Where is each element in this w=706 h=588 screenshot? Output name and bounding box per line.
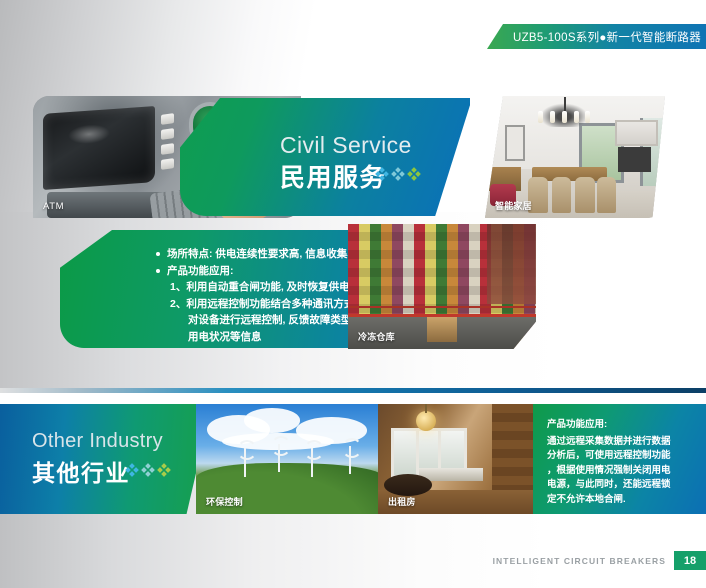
wind-turbine-icon bbox=[244, 448, 246, 477]
footer-label: INTELLIGENT CIRCUIT BREAKERS bbox=[493, 556, 666, 566]
photo-caption: 智能家居 bbox=[495, 199, 532, 212]
diamond-icon bbox=[408, 168, 420, 180]
diamond-icon bbox=[126, 464, 138, 476]
product-series-label: UZB5-100S系列●新一代智能断路器 bbox=[513, 29, 701, 45]
civil-service-title-panel: Civil Service 民用服务 bbox=[180, 98, 470, 216]
photo-caption: ATM bbox=[43, 201, 64, 212]
chair-shape bbox=[597, 177, 617, 214]
chandelier-icon bbox=[536, 101, 592, 127]
section-divider bbox=[0, 388, 706, 393]
diamond-decoration-civil bbox=[376, 168, 420, 180]
wind-turbine-icon bbox=[349, 446, 351, 475]
wind-turbine-icon bbox=[278, 444, 280, 473]
civil-service-title-cn: 民用服务 bbox=[280, 158, 386, 194]
diamond-icon bbox=[392, 168, 404, 180]
other-industry-title-panel: Other Industry 其他行业 bbox=[0, 404, 212, 514]
note-line: 分析后，可使用远程控制功能 bbox=[547, 449, 698, 464]
other-industry-note-panel: 产品功能应用: 通过远程采集数据并进行数据 分析后，可使用远程控制功能 ，根据使… bbox=[533, 404, 706, 514]
other-industry-title-cn: 其他行业 bbox=[32, 454, 130, 488]
page-number-badge: 18 bbox=[674, 551, 706, 570]
brochure-page: UZB5-100S系列●新一代智能断路器 ATM Civil Service 民… bbox=[0, 0, 706, 588]
chair-shape bbox=[552, 177, 572, 214]
diamond-icon bbox=[158, 464, 170, 476]
fireplace-shape bbox=[618, 147, 650, 171]
page-footer: INTELLIGENT CIRCUIT BREAKERS 18 bbox=[493, 551, 706, 570]
note-line: 通过远程采集数据并进行数据 bbox=[547, 435, 698, 450]
other-industry-title-en: Other Industry bbox=[32, 430, 163, 453]
note-line: 电源，与此同时，还能远程锁 bbox=[547, 478, 698, 493]
cart-shape bbox=[427, 317, 457, 342]
photo-rental-house: 出租房 bbox=[378, 404, 537, 514]
diamond-icon bbox=[142, 464, 154, 476]
cloud-shape bbox=[244, 408, 300, 432]
section-civil-service: ATM Civil Service 民用服务 bbox=[0, 84, 706, 384]
photo-smart-home: 智能家居 bbox=[485, 96, 665, 218]
photo-caption: 冷冻仓库 bbox=[358, 330, 395, 343]
rail-shape bbox=[348, 306, 536, 308]
note-title: 产品功能应用: bbox=[547, 418, 698, 433]
chair-shape bbox=[575, 177, 595, 214]
product-series-ribbon: UZB5-100S系列●新一代智能断路器 bbox=[487, 24, 706, 49]
wall-picture-shape bbox=[505, 125, 525, 161]
wind-turbine-icon bbox=[311, 448, 313, 477]
photo-caption: 环保控制 bbox=[206, 495, 243, 508]
pendant-lamp-icon bbox=[416, 411, 436, 431]
photo-caption: 出租房 bbox=[388, 495, 416, 508]
note-line: 定不允许本地合闸. bbox=[547, 493, 698, 508]
atm-screen-shape bbox=[43, 106, 155, 190]
note-line: ，根据使用情况强制关闭用电 bbox=[547, 464, 698, 479]
diamond-decoration-other bbox=[126, 464, 170, 476]
other-industry-note-body: 产品功能应用: 通过远程采集数据并进行数据 分析后，可使用远程控制功能 ，根据使… bbox=[547, 418, 698, 507]
civil-service-title-en: Civil Service bbox=[280, 132, 412, 159]
warehouse-wall-shape bbox=[487, 224, 536, 304]
diamond-icon bbox=[376, 168, 388, 180]
photo-environmental-control: 环保控制 bbox=[196, 404, 382, 514]
shelf-shape bbox=[615, 120, 659, 146]
section-other-industry: Other Industry 其他行业 环保控制 bbox=[0, 404, 706, 514]
photo-cold-storage: 冷冻仓库 bbox=[348, 224, 536, 349]
